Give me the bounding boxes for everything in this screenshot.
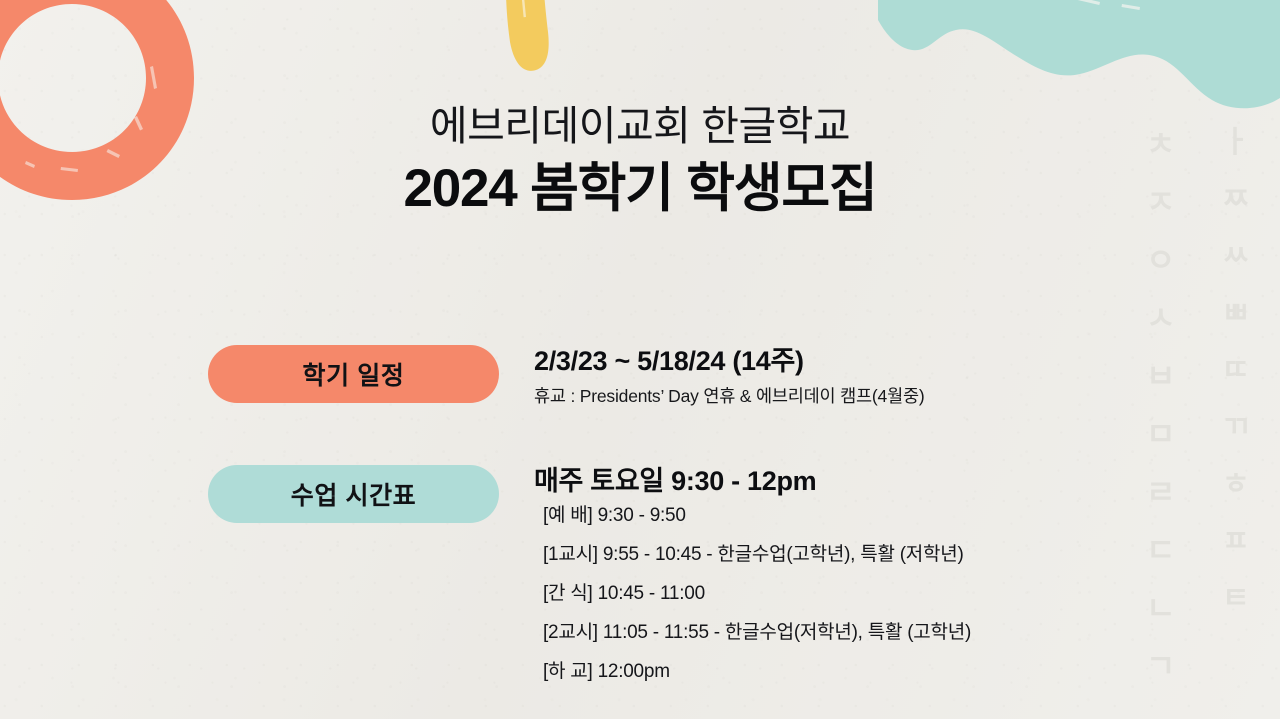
class-weekly-time: 매주 토요일 9:30 - 12pm bbox=[534, 466, 971, 498]
timetable-line-period-1: [1교시] 9:55 - 10:45 - 한글수업(고학년), 특활 (저학년) bbox=[543, 545, 971, 564]
jamo-glyph: ㅎ bbox=[1222, 470, 1250, 500]
timetable-list: [예 배] 9:30 - 9:50 [1교시] 9:55 - 10:45 - 한… bbox=[534, 506, 971, 681]
jamo-glyph: ㄱ bbox=[1146, 650, 1175, 682]
badge-semester-schedule: 학기 일정 bbox=[208, 345, 499, 403]
poster-heading-group: 에브리데이교회 한글학교 2024 봄학기 학생모집 bbox=[0, 104, 1280, 218]
semester-holiday-note: 휴교 : Presidents’ Day 연휴 & 에브리데이 캠프(4월중) bbox=[534, 385, 925, 408]
jamo-glyph: ㅃ bbox=[1222, 299, 1250, 329]
page-title: 2024 봄학기 학생모집 bbox=[0, 160, 1280, 218]
semester-date-range: 2/3/23 ~ 5/18/24 (14주) bbox=[534, 346, 925, 378]
class-timetable-row: 수업 시간표 매주 토요일 9:30 - 12pm [예 배] 9:30 - 9… bbox=[208, 465, 1140, 682]
jamo-glyph: ㄲ bbox=[1222, 413, 1250, 443]
poster-info-section: 학기 일정 2/3/23 ~ 5/18/24 (14주) 휴교 : Presid… bbox=[208, 345, 1140, 681]
jamo-glyph: ㅇ bbox=[1146, 244, 1175, 276]
timetable-line-dismissal: [하 교] 12:00pm bbox=[543, 662, 971, 681]
jamo-glyph: ㄸ bbox=[1222, 356, 1250, 386]
class-timetable-detail: 매주 토요일 9:30 - 12pm [예 배] 9:30 - 9:50 [1교… bbox=[534, 465, 971, 682]
timetable-line-snack: [간 식] 10:45 - 11:00 bbox=[543, 584, 971, 603]
jamo-glyph: ㅆ bbox=[1222, 242, 1250, 272]
jamo-glyph: ㅌ bbox=[1222, 584, 1250, 614]
semester-schedule-row: 학기 일정 2/3/23 ~ 5/18/24 (14주) 휴교 : Presid… bbox=[208, 345, 1140, 408]
jamo-glyph: ㅂ bbox=[1146, 360, 1175, 392]
jamo-glyph: ㅅ bbox=[1146, 302, 1175, 334]
badge-class-timetable: 수업 시간표 bbox=[208, 465, 499, 523]
timetable-line-period-2: [2교시] 11:05 - 11:55 - 한글수업(저학년), 특활 (고학년… bbox=[543, 623, 971, 642]
timetable-line-worship: [예 배] 9:30 - 9:50 bbox=[543, 506, 971, 525]
jamo-glyph: ㄹ bbox=[1146, 476, 1175, 508]
jamo-glyph: ㅍ bbox=[1222, 527, 1250, 557]
semester-schedule-detail: 2/3/23 ~ 5/18/24 (14주) 휴교 : Presidents’ … bbox=[534, 345, 925, 408]
jamo-glyph: ㄴ bbox=[1146, 592, 1175, 624]
jamo-glyph: ㄷ bbox=[1146, 534, 1175, 566]
yellow-leaf-shape bbox=[398, 0, 718, 78]
jamo-glyph: ㅁ bbox=[1146, 418, 1175, 450]
school-name: 에브리데이교회 한글학교 bbox=[0, 104, 1280, 150]
